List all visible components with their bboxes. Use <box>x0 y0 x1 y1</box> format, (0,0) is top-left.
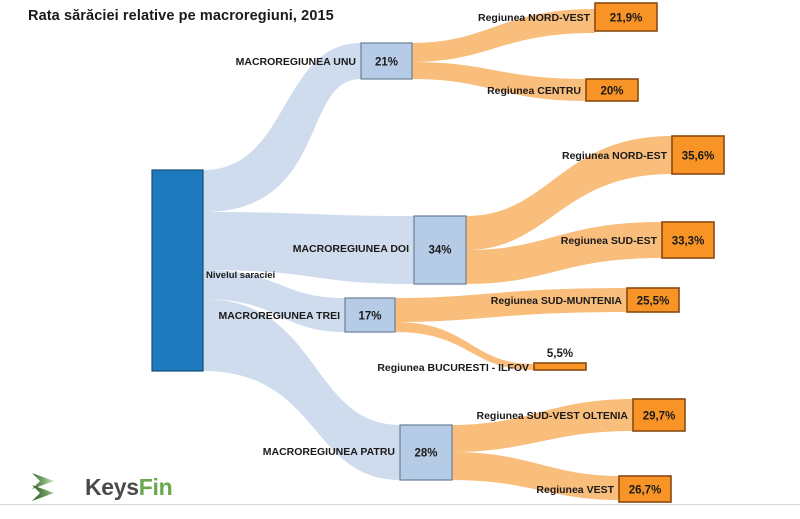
logo-wordmark: KeysFin <box>85 474 172 501</box>
node-value-regiunea-centru: 20% <box>600 86 623 98</box>
node-value-regiunea-sud-muntenia: 25,5% <box>637 296 670 308</box>
node-value-macroregiunea-unu: 21% <box>375 57 398 69</box>
node-value-regiunea-bucuresti-ilfov: 5,5% <box>547 348 573 360</box>
node-label-macroregiunea-patru: MACROREGIUNEA PATRU <box>263 446 395 458</box>
node-label-regiunea-sud-est: Regiunea SUD-EST <box>561 235 658 247</box>
link-src-to-mr1 <box>203 43 361 212</box>
node-nivelul-saraciei[interactable] <box>152 170 203 371</box>
chevron-logo-icon <box>30 470 76 504</box>
node-regiunea-bucuresti-ilfov[interactable] <box>534 363 586 370</box>
node-label-macroregiunea-unu: MACROREGIUNEA UNU <box>236 56 356 68</box>
node-value-macroregiunea-doi: 34% <box>428 245 451 257</box>
node-label-regiunea-centru: Regiunea CENTRU <box>487 85 581 97</box>
node-label-macroregiunea-trei: MACROREGIUNEA TREI <box>218 310 340 322</box>
node-label-regiunea-bucuresti-ilfov: Regiunea BUCURESTI - ILFOV <box>377 362 529 374</box>
node-label-regiunea-vest: Regiunea VEST <box>536 484 614 496</box>
node-label-regiunea-sud-muntenia: Regiunea SUD-MUNTENIA <box>491 295 623 307</box>
footer-divider <box>0 504 800 505</box>
node-value-regiunea-nord-vest: 21,9% <box>610 13 643 25</box>
sankey-diagram: Nivelul saraciei MACROREGIUNEA UNU 21% M… <box>0 0 800 519</box>
node-value-regiunea-sud-est: 33,3% <box>672 236 705 248</box>
node-value-regiunea-sud-vest-oltenia: 29,7% <box>643 411 676 423</box>
node-label-macroregiunea-doi: MACROREGIUNEA DOI <box>293 243 409 255</box>
node-value-macroregiunea-patru: 28% <box>414 448 437 460</box>
node-value-regiunea-vest: 26,7% <box>629 485 662 497</box>
keysfin-logo: KeysFin <box>30 470 172 504</box>
sankey-chart-page: Rata sărăciei relative pe macroregiuni, … <box>0 0 800 519</box>
logo-keys-text: Keys <box>85 474 139 500</box>
node-label-regiunea-sud-vest-oltenia: Regiunea SUD-VEST OLTENIA <box>477 410 629 422</box>
links-source-to-macroregions <box>203 43 414 480</box>
node-value-macroregiunea-trei: 17% <box>358 311 381 323</box>
node-label-regiunea-nord-vest: Regiunea NORD-VEST <box>478 12 591 24</box>
node-label-regiunea-nord-est: Regiunea NORD-EST <box>562 150 668 162</box>
node-label-nivelul-saraciei: Nivelul saraciei <box>206 270 275 281</box>
logo-fin-text: Fin <box>139 474 173 500</box>
node-value-regiunea-nord-est: 35,6% <box>682 151 715 163</box>
link-mr4-to-sudvestoltenia <box>452 399 633 452</box>
